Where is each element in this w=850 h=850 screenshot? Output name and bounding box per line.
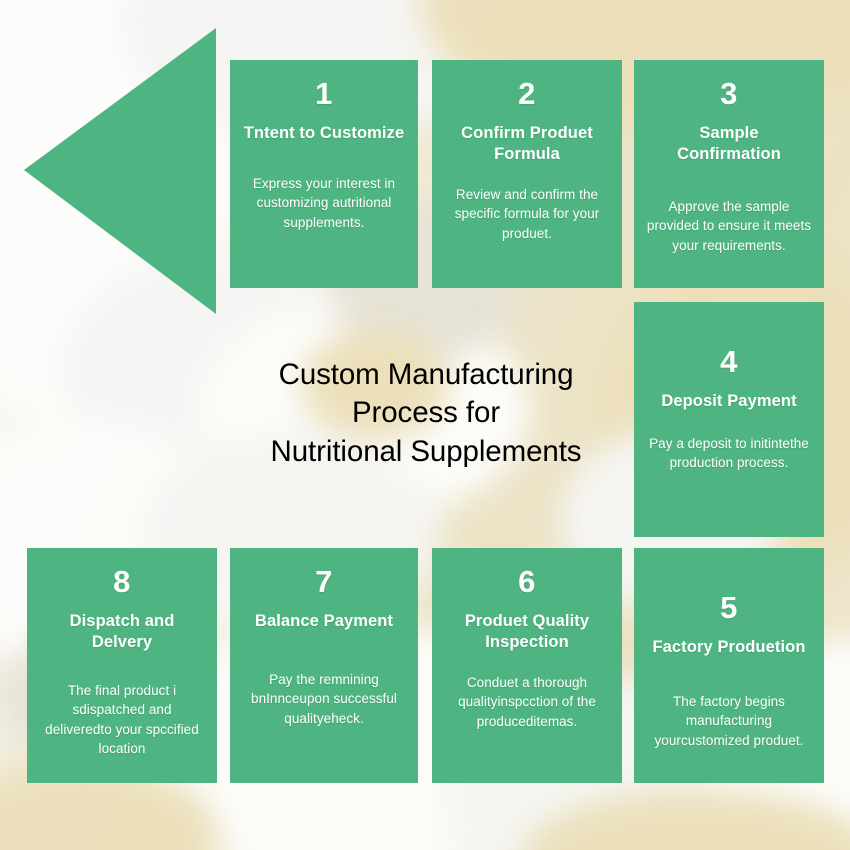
step-title: Dispatch and Delvery — [39, 611, 205, 653]
step-description: Review and confirm the specific formula … — [444, 185, 610, 244]
step-title: Factory Produetion — [652, 637, 805, 658]
page-title: Custom Manufacturing Process for Nutriti… — [226, 356, 626, 471]
page-title-line-2: Process for — [226, 394, 626, 432]
step-card-8[interactable]: 8 Dispatch and Delvery The final product… — [27, 548, 217, 783]
step-number: 5 — [720, 592, 738, 625]
step-description: The final product i sdispatched and deli… — [39, 681, 205, 759]
step-number: 3 — [720, 78, 738, 111]
step-description: Express your interest in customizing aut… — [242, 174, 406, 233]
step-description: Pay a deposit to initintethe production … — [646, 434, 812, 473]
step-number: 8 — [113, 566, 131, 599]
step-card-3[interactable]: 3 Sample Confirmation Approve the sample… — [634, 60, 824, 288]
step-card-6[interactable]: 6 Produet Quality Inspection Conduet a t… — [432, 548, 622, 783]
page-title-line-1: Custom Manufacturing — [226, 356, 626, 394]
step-description: The factory begins manufacturing yourcus… — [646, 692, 812, 751]
step-card-4[interactable]: 4 Deposit Payment Pay a deposit to initi… — [634, 302, 824, 537]
step-description: Approve the sample provided to ensure it… — [646, 197, 812, 256]
step-card-1[interactable]: 1 Tntent to Customize Express your inter… — [230, 60, 418, 288]
step-title: Deposit Payment — [661, 391, 796, 412]
step-number: 6 — [518, 566, 536, 599]
left-arrow-icon — [24, 28, 216, 314]
page-title-line-3: Nutritional Supplements — [226, 433, 626, 471]
step-card-5[interactable]: 5 Factory Produetion The factory begins … — [634, 548, 824, 783]
step-title: Tntent to Customize — [244, 123, 404, 144]
step-description: Conduet a thorough qualityinspcction of … — [444, 673, 610, 732]
step-title: Confirm Produet Formula — [444, 123, 610, 165]
step-card-7[interactable]: 7 Balance Payment Pay the remnining bnIn… — [230, 548, 418, 783]
step-number: 2 — [518, 78, 536, 111]
step-card-2[interactable]: 2 Confirm Produet Formula Review and con… — [432, 60, 622, 288]
step-title: Produet Quality Inspection — [444, 611, 610, 653]
step-number: 4 — [720, 346, 738, 379]
step-title: Balance Payment — [255, 611, 393, 632]
step-title: Sample Confirmation — [646, 123, 812, 165]
step-description: Pay the remnining bnInnceupon successful… — [242, 670, 406, 729]
step-number: 1 — [315, 78, 333, 111]
step-number: 7 — [315, 566, 333, 599]
infographic-canvas: Custom Manufacturing Process for Nutriti… — [0, 0, 850, 850]
